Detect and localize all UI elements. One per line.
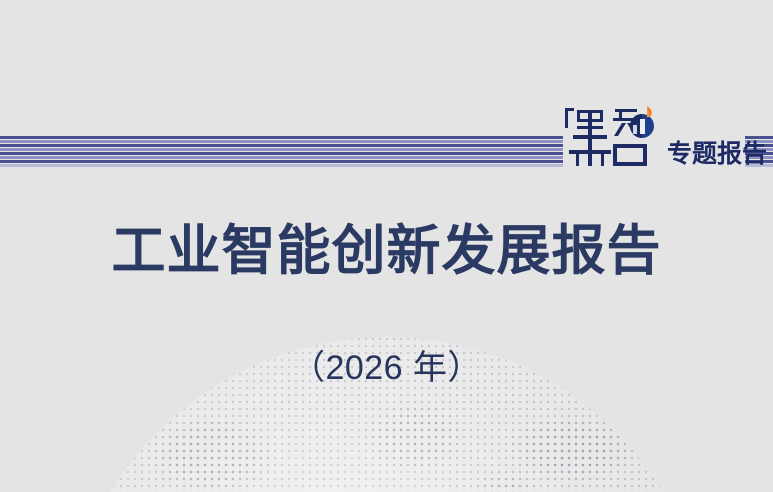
page-subtitle-year: （2026 年） bbox=[0, 350, 773, 387]
jizhi-logotype-svg bbox=[563, 104, 661, 170]
stripe-5 bbox=[0, 152, 563, 155]
header-stripes-left bbox=[0, 136, 563, 169]
brand-logo: 专题报告 bbox=[563, 96, 749, 170]
report-cover-page: 专题报告 工业智能创新发展报告 （2026 年） bbox=[0, 0, 773, 492]
stripe-2 bbox=[0, 140, 563, 143]
brand-logotype-mark bbox=[563, 104, 661, 170]
stripe-6 bbox=[0, 156, 563, 159]
stripe-1 bbox=[0, 136, 563, 139]
brand-subtitle: 专题报告 bbox=[667, 142, 767, 167]
stripe-4 bbox=[0, 148, 563, 151]
stripe-3 bbox=[0, 144, 563, 147]
stripe-7 bbox=[0, 160, 563, 163]
stripe-8 bbox=[0, 164, 563, 167]
page-title: 工业智能创新发展报告 bbox=[0, 222, 773, 281]
header-band: 专题报告 bbox=[0, 44, 773, 136]
stripe-r1 bbox=[745, 136, 773, 139]
